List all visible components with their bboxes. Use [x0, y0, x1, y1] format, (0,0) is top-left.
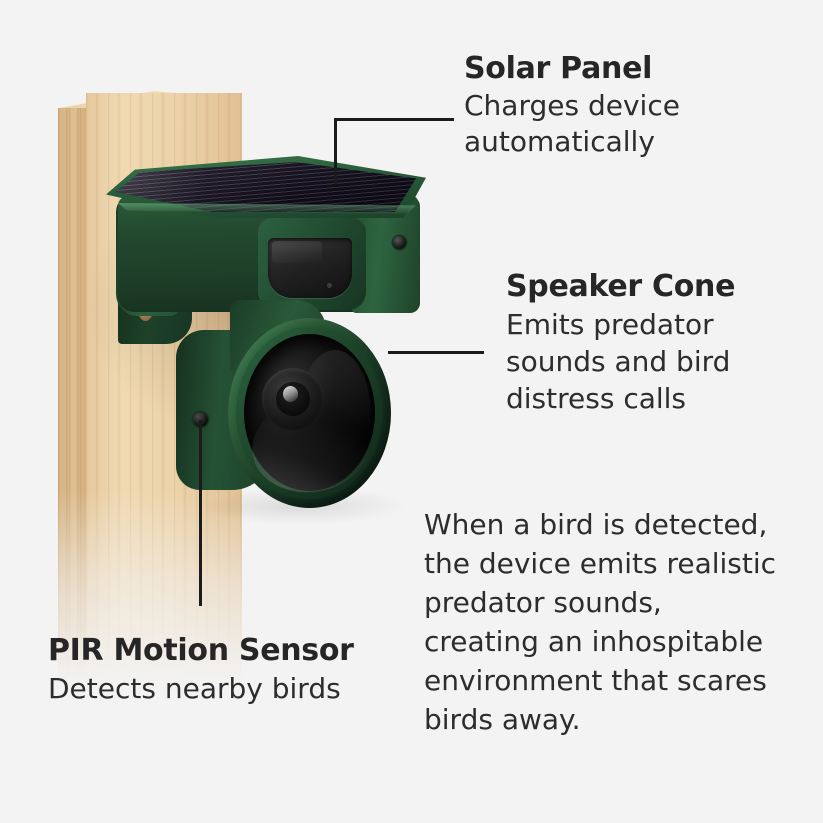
paragraph-line-1: When a bird is detected, — [424, 505, 814, 544]
callout-solar-panel: Solar Panel Charges device automatically — [464, 50, 680, 160]
callout-solar-panel-line-2: automatically — [464, 124, 680, 160]
leader-line-solar-panel-horizontal — [334, 118, 454, 121]
paragraph-line-2: the device emits realistic — [424, 544, 814, 583]
leader-line-solar-panel-vertical — [334, 118, 337, 184]
paragraph-line-3: predator sounds, — [424, 583, 814, 622]
callout-speaker-cone-line-2: sounds and bird — [506, 343, 735, 380]
callout-pir-motion-sensor-title: PIR Motion Sensor — [48, 632, 354, 670]
callout-solar-panel-title: Solar Panel — [464, 50, 680, 88]
callout-solar-panel-line-1: Charges device — [464, 88, 680, 124]
device-drop-shadow — [196, 488, 406, 524]
callout-speaker-cone-line-3: distress calls — [506, 380, 735, 417]
pir-window-glare — [272, 241, 322, 263]
callout-pir-motion-sensor-line-1: Detects nearby birds — [48, 670, 354, 707]
pir-indicator-dot — [327, 283, 332, 288]
callout-speaker-cone: Speaker Cone Emits predator sounds and b… — [506, 268, 735, 417]
callout-pir-motion-sensor: PIR Motion Sensor Detects nearby birds — [48, 632, 354, 707]
leader-line-speaker-cone — [388, 351, 484, 354]
housing-screw — [393, 236, 406, 249]
callout-speaker-cone-title: Speaker Cone — [506, 268, 735, 306]
paragraph-line-5: environment that scares — [424, 661, 814, 700]
infographic-canvas: Solar Panel Charges device automatically… — [0, 0, 823, 823]
paragraph-line-6: birds away. — [424, 700, 814, 739]
bird-repeller-device — [0, 0, 460, 560]
paragraph-line-4: creating an inhospitable — [424, 622, 814, 661]
leader-line-pir-sensor — [199, 420, 202, 606]
callout-speaker-cone-line-1: Emits predator — [506, 306, 735, 343]
product-description-paragraph: When a bird is detected, the device emit… — [424, 505, 814, 739]
speaker-dome-specular — [283, 386, 298, 402]
